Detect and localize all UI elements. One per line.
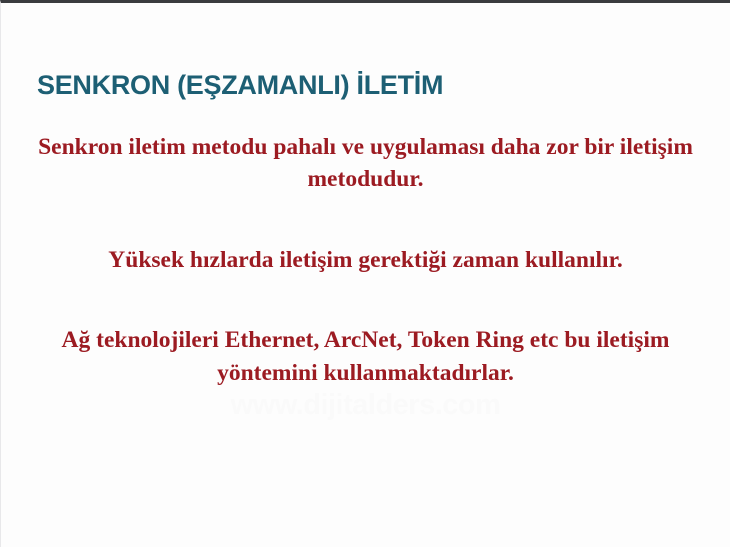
slide-body: Senkron iletim metodu pahalı ve uygulama… [37,131,694,389]
body-paragraph-2: Yüksek hızlarda iletişim gerektiği zaman… [37,244,694,276]
body-paragraph-1: Senkron iletim metodu pahalı ve uygulama… [37,131,694,196]
presentation-slide: SENKRON (EŞZAMANLI) İLETİM Senkron ileti… [0,0,730,547]
site-watermark: www.dijitalders.com [1,389,730,422]
page-title: SENKRON (EŞZAMANLI) İLETİM [37,70,443,101]
body-paragraph-3: Ağ teknolojileri Ethernet, ArcNet, Token… [37,324,694,389]
